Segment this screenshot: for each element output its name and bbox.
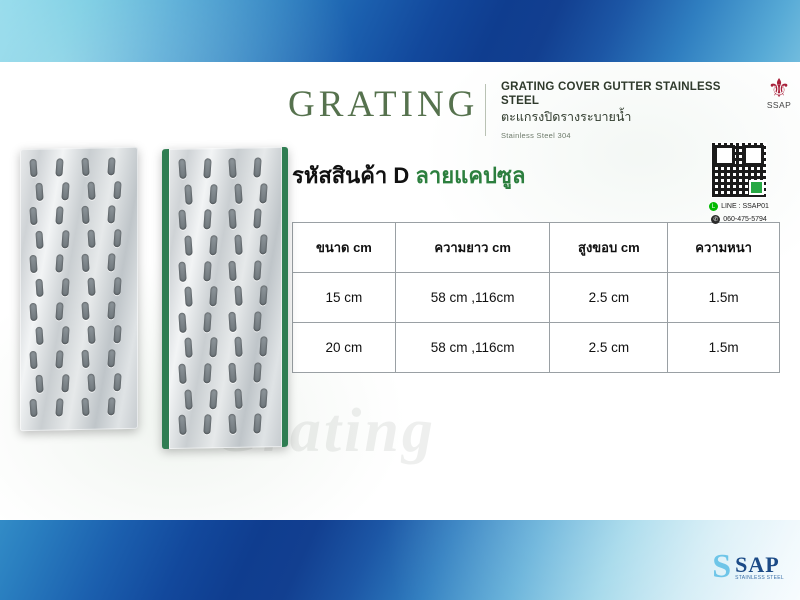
grating-slot bbox=[107, 253, 115, 271]
table-header-cell: ขนาด cm bbox=[293, 223, 396, 273]
grating-slot bbox=[209, 389, 217, 409]
grating-slot bbox=[29, 255, 37, 274]
phone-number-label: 060-475-5794 bbox=[723, 216, 767, 223]
grating-slot bbox=[35, 231, 43, 250]
grating-slot bbox=[228, 209, 236, 229]
grating-slot bbox=[107, 349, 115, 367]
grating-slot bbox=[228, 260, 236, 280]
grating-slot bbox=[113, 229, 121, 247]
grating-slot bbox=[259, 234, 267, 254]
qr-code-icon[interactable] bbox=[711, 142, 767, 198]
grating-slot bbox=[203, 261, 211, 281]
grating-slot bbox=[203, 414, 211, 434]
grating-panel-left bbox=[20, 147, 138, 431]
grating-slot bbox=[184, 389, 192, 409]
grating-slot bbox=[81, 206, 89, 225]
grating-slot bbox=[184, 338, 192, 358]
line-icon: L bbox=[709, 202, 718, 211]
grating-slot bbox=[61, 374, 69, 392]
table-cell: 20 cm bbox=[293, 323, 396, 373]
grating-slot bbox=[203, 158, 211, 178]
table-cell: 58 cm ,116cm bbox=[395, 323, 550, 373]
grating-slot bbox=[61, 278, 69, 296]
grating-slot bbox=[234, 286, 242, 306]
crest-icon: ⚜ bbox=[756, 76, 800, 100]
footer-logo: S SAP STAINLESS STEEL bbox=[712, 552, 784, 582]
grating-slot bbox=[35, 327, 43, 346]
grating-slot bbox=[253, 362, 261, 382]
table-header-cell: ความยาว cm bbox=[395, 223, 550, 273]
header-thai-line: ตะแกรงปิดรางระบายน้ำ bbox=[501, 109, 746, 126]
table-cell: 58 cm ,116cm bbox=[395, 273, 550, 323]
grating-slot bbox=[178, 364, 186, 384]
header-material-line: Stainless Steel 304 bbox=[501, 131, 746, 140]
grating-slot bbox=[184, 184, 192, 204]
phone-contact-row[interactable]: ✆ 060-475-5794 bbox=[696, 215, 782, 224]
grating-slot bbox=[253, 157, 261, 177]
grating-slot bbox=[203, 363, 211, 383]
footer-logo-tagline: STAINLESS STEEL bbox=[735, 576, 784, 581]
grating-slot bbox=[81, 158, 89, 177]
grating-slot bbox=[55, 350, 63, 368]
grating-slot bbox=[55, 206, 63, 224]
table-cell: 2.5 cm bbox=[550, 323, 668, 373]
slide-page: GRATING GRATING COVER GUTTER STAINLESS S… bbox=[0, 0, 800, 600]
grating-slot bbox=[29, 207, 37, 226]
product-image-group bbox=[14, 80, 294, 450]
grating-slot bbox=[87, 373, 95, 392]
grating-slot bbox=[81, 350, 89, 369]
grating-slot bbox=[228, 414, 236, 434]
grating-slot bbox=[113, 373, 121, 391]
grating-slot bbox=[55, 254, 63, 272]
grating-slot bbox=[29, 303, 37, 322]
grating-slot bbox=[29, 351, 37, 370]
grating-slot bbox=[35, 279, 43, 298]
line-id-label: LINE : SSAP01 bbox=[721, 203, 769, 210]
grating-slot bbox=[259, 285, 267, 305]
spec-table: ขนาด cm ความยาว cm สูงขอบ cm ความหนา 15 … bbox=[292, 222, 780, 373]
grating-slot bbox=[113, 325, 121, 343]
grating-slot bbox=[107, 157, 115, 175]
grating-slot bbox=[184, 287, 192, 307]
grating-slot bbox=[203, 209, 211, 229]
grating-slot bbox=[29, 399, 37, 418]
header-divider bbox=[485, 84, 486, 136]
grating-slot bbox=[184, 235, 192, 255]
grating-slot bbox=[55, 302, 63, 320]
grating-slot bbox=[107, 205, 115, 223]
grating-slot bbox=[113, 277, 121, 295]
grating-slot bbox=[253, 414, 261, 434]
grating-slot bbox=[228, 363, 236, 383]
grating-slot bbox=[87, 181, 95, 200]
grating-slot bbox=[55, 158, 63, 176]
grating-slot bbox=[234, 388, 242, 408]
grating-slot bbox=[87, 277, 95, 296]
grating-slot bbox=[113, 181, 121, 199]
table-cell: 15 cm bbox=[293, 273, 396, 323]
grating-slot bbox=[87, 229, 95, 248]
grating-slot bbox=[178, 158, 186, 178]
table-header-cell: สูงขอบ cm bbox=[550, 223, 668, 273]
grating-slot bbox=[234, 183, 242, 203]
grating-slot bbox=[259, 183, 267, 203]
grating-slot bbox=[107, 301, 115, 319]
header-english-line: GRATING COVER GUTTER STAINLESS STEEL bbox=[501, 80, 746, 108]
grating-slot bbox=[178, 312, 186, 332]
product-code-line: รหัสสินค้า D ลายแคปซูล bbox=[292, 158, 525, 193]
grating-slot bbox=[203, 312, 211, 332]
qr-line-badge bbox=[749, 180, 764, 195]
footer-logo-mark: S bbox=[712, 552, 731, 582]
grating-slot bbox=[29, 159, 37, 178]
grating-slot bbox=[259, 388, 267, 408]
table-row: 20 cm 58 cm ,116cm 2.5 cm 1.5m bbox=[293, 323, 780, 373]
grating-slot bbox=[253, 260, 261, 280]
grating-slot bbox=[55, 398, 63, 416]
contact-block: L LINE : SSAP01 ✆ 060-475-5794 bbox=[696, 142, 782, 224]
grating-slot bbox=[61, 230, 69, 248]
grating-slot bbox=[209, 184, 217, 204]
grating-slot bbox=[35, 183, 43, 202]
grating-slot bbox=[234, 337, 242, 357]
grating-slot bbox=[178, 210, 186, 230]
grating-slot bbox=[228, 311, 236, 331]
grating-slot bbox=[234, 234, 242, 254]
grating-slot bbox=[61, 326, 69, 344]
table-cell: 1.5m bbox=[668, 273, 780, 323]
table-header-cell: ความหนา bbox=[668, 223, 780, 273]
grating-slot bbox=[253, 209, 261, 229]
table-row: 15 cm 58 cm ,116cm 2.5 cm 1.5m bbox=[293, 273, 780, 323]
grating-slot bbox=[81, 254, 89, 273]
grating-slot bbox=[228, 158, 236, 178]
product-pattern-label: ลายแคปซูล bbox=[415, 163, 525, 188]
grating-slot bbox=[81, 302, 89, 321]
grating-slot bbox=[35, 375, 43, 394]
grating-slot bbox=[209, 337, 217, 357]
phone-icon: ✆ bbox=[711, 215, 720, 224]
table-cell: 2.5 cm bbox=[550, 273, 668, 323]
grating-slot bbox=[209, 286, 217, 306]
grating-slot bbox=[87, 325, 95, 344]
grating-slot bbox=[81, 398, 89, 417]
grating-slot bbox=[178, 415, 186, 435]
brand-logo-name: SSAP bbox=[756, 100, 800, 110]
brand-logo: ⚜ SSAP bbox=[756, 76, 800, 110]
footer-logo-name: SAP bbox=[735, 554, 784, 576]
header-block: GRATING GRATING COVER GUTTER STAINLESS S… bbox=[288, 80, 758, 123]
grating-slot bbox=[178, 261, 186, 281]
grating-slot bbox=[253, 311, 261, 331]
grating-slot bbox=[107, 397, 115, 415]
header-text-group: GRATING COVER GUTTER STAINLESS STEEL ตะแ… bbox=[501, 80, 746, 140]
product-code-label: รหัสสินค้า D bbox=[292, 163, 409, 188]
grating-panel-right bbox=[162, 147, 288, 449]
grating-slot bbox=[209, 235, 217, 255]
line-contact-row[interactable]: L LINE : SSAP01 bbox=[696, 202, 782, 211]
grating-slot bbox=[61, 182, 69, 200]
grating-slot bbox=[259, 337, 267, 357]
table-cell: 1.5m bbox=[668, 323, 780, 373]
table-header-row: ขนาด cm ความยาว cm สูงขอบ cm ความหนา bbox=[293, 223, 780, 273]
